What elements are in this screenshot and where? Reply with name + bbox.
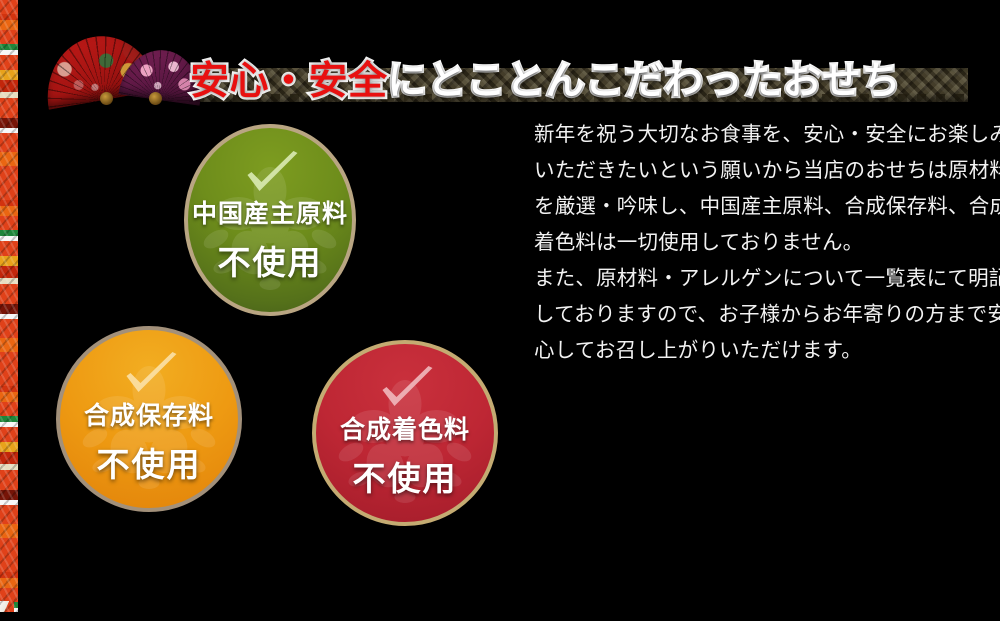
seal-no-chinese-ingredients: 中国産主原料 不使用 bbox=[184, 124, 356, 316]
checkmark-icon bbox=[120, 351, 182, 399]
checkmark-icon bbox=[376, 365, 438, 413]
seal-no-synthetic-preservatives: 合成保存料 不使用 bbox=[56, 326, 242, 512]
seal-subtitle: 不使用 bbox=[353, 452, 458, 500]
folding-fans-decoration bbox=[44, 26, 204, 122]
title-accent-text: 安心・安全 bbox=[190, 62, 388, 101]
seal-no-synthetic-colorants: 合成着色料 不使用 bbox=[312, 340, 498, 526]
seal-title: 合成着色料 bbox=[340, 410, 470, 446]
banner-header: 安心・安全にとことんこだわったおせち bbox=[0, 18, 1000, 110]
seal-title: 合成保存料 bbox=[84, 396, 214, 432]
page-title: 安心・安全にとことんこだわったおせち bbox=[190, 62, 901, 101]
checkmark-icon bbox=[241, 150, 303, 198]
seal-subtitle: 不使用 bbox=[97, 438, 202, 486]
seal-subtitle: 不使用 bbox=[218, 236, 323, 284]
strip-tip bbox=[0, 601, 14, 612]
fan-pivot-icon bbox=[149, 92, 162, 105]
fan-pivot-icon bbox=[100, 92, 113, 105]
osechi-safety-banner: 安心・安全にとことんこだわったおせち 中国産主原料 不使用 bbox=[0, 0, 1000, 621]
title-rest-text: にとことんこだわったおせち bbox=[388, 62, 902, 101]
seal-title: 中国産主原料 bbox=[192, 194, 348, 230]
description-paragraph: 新年を祝う大切なお食事を、安心・安全にお楽しみいただきたいという願いから当店のお… bbox=[534, 116, 1000, 368]
